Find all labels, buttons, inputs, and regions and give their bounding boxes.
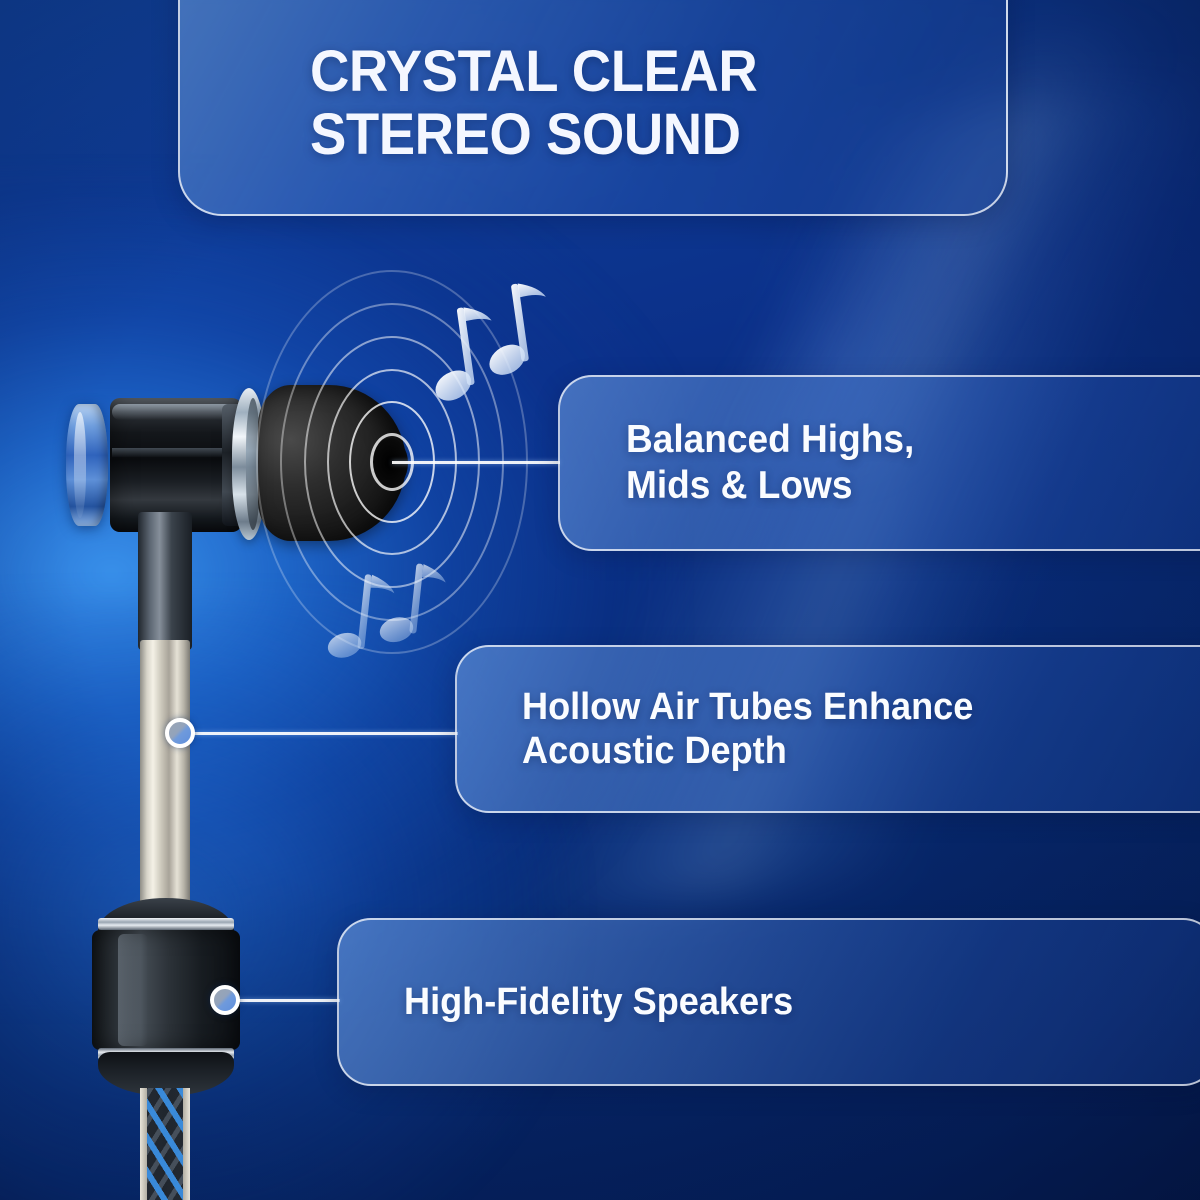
braided-cable-edge-right (183, 1088, 190, 1200)
earphone-stem-upper (138, 512, 192, 650)
callout-feature-balanced-sound[interactable]: Balanced Highs, Mids & Lows (558, 375, 1200, 551)
leader-line-feature-2 (186, 732, 458, 735)
callout-label-3: High-Fidelity Speakers (404, 980, 793, 1024)
callout-feature-high-fidelity-speakers[interactable]: High-Fidelity Speakers (337, 918, 1200, 1086)
callout-feature-hollow-air-tubes[interactable]: Hollow Air Tubes Enhance Acoustic Depth (455, 645, 1200, 813)
speaker-module-highlight (118, 934, 148, 1046)
headline-panel: CRYSTAL CLEAR STEREO SOUND (178, 0, 1008, 216)
earphone-barrel-highlight (112, 404, 240, 420)
earphone-silver-stem-tube (140, 640, 190, 908)
callout-dot-feature-3[interactable] (210, 985, 240, 1015)
callout-dot-feature-2[interactable] (165, 718, 195, 748)
speaker-module-chrome-ring-top (98, 918, 234, 930)
earphone-blue-end-cap (66, 404, 108, 526)
earphone-barrel-band (112, 448, 240, 457)
callout-label-1: Balanced Highs, Mids & Lows (626, 417, 914, 508)
braided-cable-edge-left (140, 1088, 147, 1200)
leader-line-feature-3 (228, 999, 340, 1002)
leader-line-feature-1 (392, 461, 560, 464)
earphone-blue-end-cap-highlight (74, 412, 86, 518)
callout-label-2: Hollow Air Tubes Enhance Acoustic Depth (522, 685, 973, 774)
infographic-canvas: CRYSTAL CLEAR STEREO SOUND Balanced High… (0, 0, 1200, 1200)
page-title: CRYSTAL CLEAR STEREO SOUND (310, 40, 757, 166)
